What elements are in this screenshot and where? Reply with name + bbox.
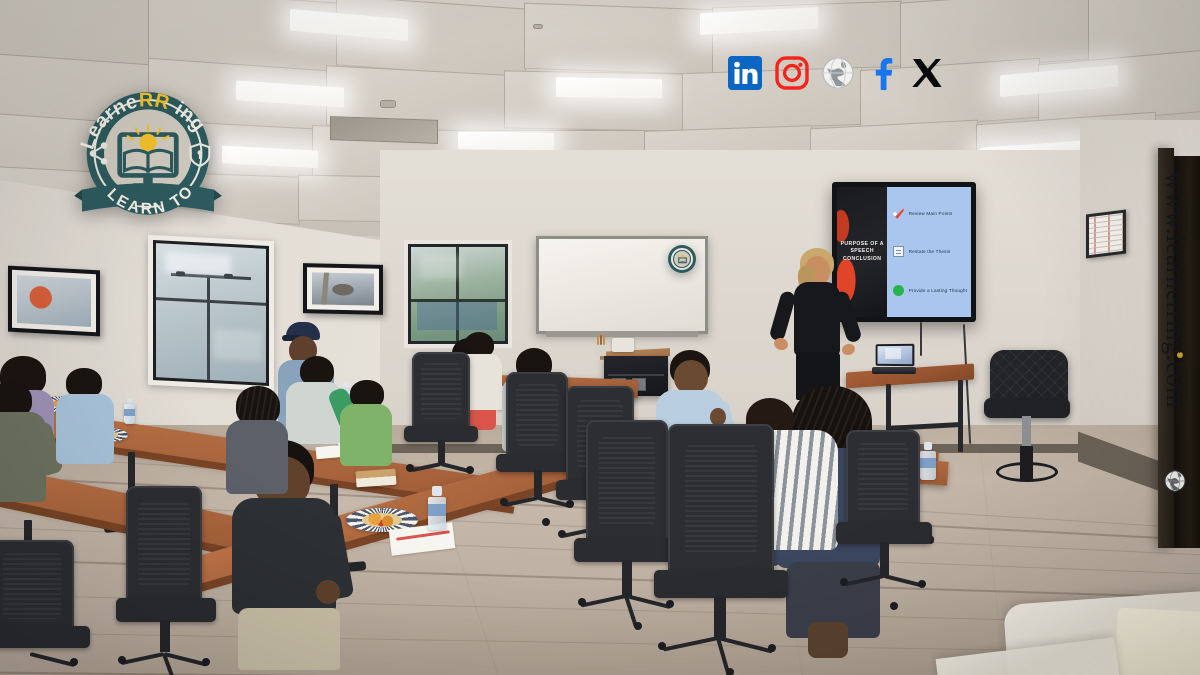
stool-footring — [996, 462, 1058, 482]
slide-bullet-item: Restate the Thesis — [893, 246, 965, 257]
classroom-photo-scene: PURPOSE OF A SPEECH CONCLUSION Review Ma… — [0, 0, 1200, 675]
office-chair[interactable] — [832, 430, 942, 620]
office-chair[interactable] — [648, 424, 798, 674]
slide-bullet-text: Restate the Thesis — [909, 249, 951, 254]
document-icon — [893, 246, 904, 257]
framed-certificate — [1086, 210, 1126, 259]
white-cloth-fold — [1114, 608, 1200, 675]
whiteboard — [536, 236, 708, 334]
presenter-arm-left — [769, 290, 797, 342]
whiteboard-logo-seal — [668, 245, 696, 273]
framed-helicopter-photo — [8, 266, 100, 337]
water-bottle — [428, 486, 446, 530]
x-twitter-icon[interactable] — [910, 56, 944, 90]
student-hand — [316, 580, 340, 604]
slide-bullet-item: Review Main Points — [893, 208, 965, 219]
tissue-box — [612, 338, 634, 352]
ceiling-light — [458, 131, 554, 151]
ceiling-light — [556, 77, 662, 99]
slide-bullet-text: Review Main Points — [909, 211, 953, 216]
office-chair[interactable] — [110, 486, 230, 675]
globe-icon — [1164, 470, 1186, 497]
interior-window — [148, 235, 274, 392]
slide-bullet-item: Provide a Lasting Thought — [893, 285, 965, 296]
pen-holder — [596, 334, 608, 346]
water-bottle — [124, 398, 135, 424]
tv-cable — [920, 322, 922, 356]
smoke-detector-icon — [380, 100, 396, 108]
check-icon — [893, 208, 904, 219]
slide-bullet-panel: Review Main Points Restate the Thesis Pr… — [887, 187, 971, 317]
ceiling-air-vent — [330, 116, 438, 144]
presenter-torso — [794, 282, 840, 356]
desk-leg — [958, 380, 963, 452]
facebook-icon[interactable] — [867, 56, 897, 90]
student-leg-skin — [808, 622, 848, 658]
presenter-hand-left — [772, 336, 789, 352]
social-media-bar — [728, 56, 944, 90]
office-chair[interactable] — [0, 540, 110, 675]
student — [224, 386, 298, 516]
framed-osprey-aircraft-photo — [303, 263, 383, 315]
presenter — [770, 248, 860, 398]
linkedin-icon[interactable] — [728, 56, 762, 90]
globe-icon[interactable] — [822, 57, 854, 89]
student-shorts — [238, 608, 340, 670]
green-dot-icon — [893, 285, 904, 296]
presenter-hand-right — [841, 342, 857, 356]
slide-bullet-text: Provide a Lasting Thought — [909, 288, 968, 293]
office-chair[interactable] — [402, 352, 486, 492]
website-url-vertical: www.learnerring.com — [1160, 172, 1190, 408]
learnerring-logo: Learne RR ing LEARN TO LEAD — [68, 78, 228, 232]
whiteboard-marker-tray — [546, 331, 699, 337]
laptop[interactable] — [872, 344, 916, 374]
instagram-icon[interactable] — [775, 56, 809, 90]
student — [56, 368, 124, 488]
smoke-detector-icon — [533, 24, 543, 29]
student — [340, 380, 402, 490]
